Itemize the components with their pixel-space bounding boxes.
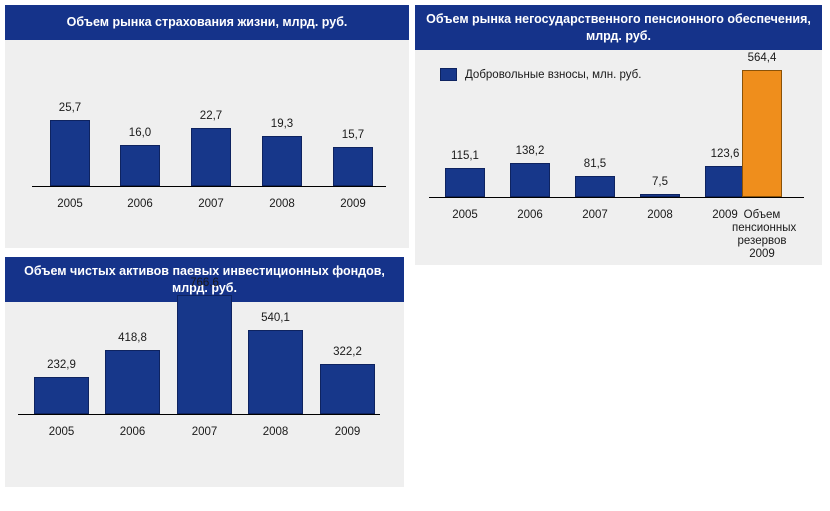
value-label-2007: 22,7 (191, 110, 231, 122)
category-label-2007: 2007 (186, 198, 236, 211)
bar-pension-reserves-2009[interactable] (742, 70, 782, 197)
category-label-2006: 2006 (505, 209, 555, 222)
value-label-2008: 7,5 (635, 176, 685, 188)
category-label-2006: 2006 (100, 426, 165, 439)
bar-2007[interactable] (191, 128, 231, 186)
bar-2009[interactable] (320, 364, 375, 414)
legend-label-voluntary-contributions: Добровольные взносы, млн. руб. (465, 69, 641, 81)
category-label-2008: 2008 (243, 426, 308, 439)
category-label-2008: 2008 (257, 198, 307, 211)
panel-life-insurance-body: 25,7 16,0 22,7 19,3 15,7 2005 2006 2007 … (5, 40, 409, 248)
x-axis-line (32, 186, 386, 187)
bar-2005[interactable] (445, 168, 485, 197)
legend-swatch-icon (440, 68, 457, 81)
bar-2008[interactable] (640, 194, 680, 197)
category-label-2007: 2007 (172, 426, 237, 439)
value-label-2005: 232,9 (29, 359, 94, 371)
panel-pension-title: Объем рынка негосударственного пенсионно… (415, 5, 822, 50)
x-axis-line (429, 197, 804, 198)
panel-mutual-funds-net-assets: Объем чистых активов паевых инвестиционн… (5, 257, 404, 487)
chart-pension-market: Добровольные взносы, млн. руб. 115,1 138… (415, 50, 822, 265)
category-label-2005: 2005 (45, 198, 95, 211)
value-label-2006: 138,2 (505, 145, 555, 157)
bar-2007[interactable] (177, 295, 232, 414)
category-label-2005: 2005 (29, 426, 94, 439)
chart-mutual-funds: 232,9 418,8 766,6 540,1 322,2 2005 2006 … (5, 302, 404, 487)
value-label-2005: 115,1 (440, 150, 490, 162)
chart-life-insurance: 25,7 16,0 22,7 19,3 15,7 2005 2006 2007 … (5, 40, 409, 248)
value-label-2009: 123,6 (700, 148, 750, 160)
value-label-2009: 322,2 (315, 346, 380, 358)
value-label-2007: 766,6 (172, 277, 237, 289)
bar-2006[interactable] (510, 163, 550, 197)
bar-2007[interactable] (575, 176, 615, 197)
category-label-2009: 2009 (315, 426, 380, 439)
bar-2006[interactable] (105, 350, 160, 414)
value-label-2006: 16,0 (120, 127, 160, 139)
category-label-2007: 2007 (570, 209, 620, 222)
bar-2008[interactable] (262, 136, 302, 186)
value-label-pension-reserves-2009: 564,4 (737, 52, 787, 64)
bar-2009[interactable] (333, 147, 373, 186)
bar-2006[interactable] (120, 145, 160, 186)
value-label-2008: 19,3 (262, 118, 302, 130)
panel-pension-market: Объем рынка негосударственного пенсионно… (415, 5, 822, 265)
panel-life-insurance-title: Объем рынка страхования жизни, млрд. руб… (5, 5, 409, 40)
bar-2005[interactable] (34, 377, 89, 414)
value-label-2007: 81,5 (570, 158, 620, 170)
category-label-2009: 2009 (328, 198, 378, 211)
value-label-2008: 540,1 (243, 312, 308, 324)
x-axis-line (18, 414, 380, 415)
value-label-2005: 25,7 (50, 102, 90, 114)
value-label-2006: 418,8 (100, 332, 165, 344)
value-label-2009: 15,7 (333, 129, 373, 141)
chart-legend: Добровольные взносы, млн. руб. (440, 68, 641, 81)
category-label-pension-reserves-2009: Объем пенсионных резервов 2009 (732, 209, 792, 261)
panel-mutual-funds-body: 232,9 418,8 766,6 540,1 322,2 2005 2006 … (5, 302, 404, 487)
panel-life-insurance-market: Объем рынка страхования жизни, млрд. руб… (5, 5, 409, 248)
panel-pension-body: Добровольные взносы, млн. руб. 115,1 138… (415, 50, 822, 265)
category-label-2008: 2008 (635, 209, 685, 222)
bar-2005[interactable] (50, 120, 90, 186)
category-label-2006: 2006 (115, 198, 165, 211)
bar-2008[interactable] (248, 330, 303, 414)
category-label-2005: 2005 (440, 209, 490, 222)
bar-2009[interactable] (705, 166, 745, 197)
